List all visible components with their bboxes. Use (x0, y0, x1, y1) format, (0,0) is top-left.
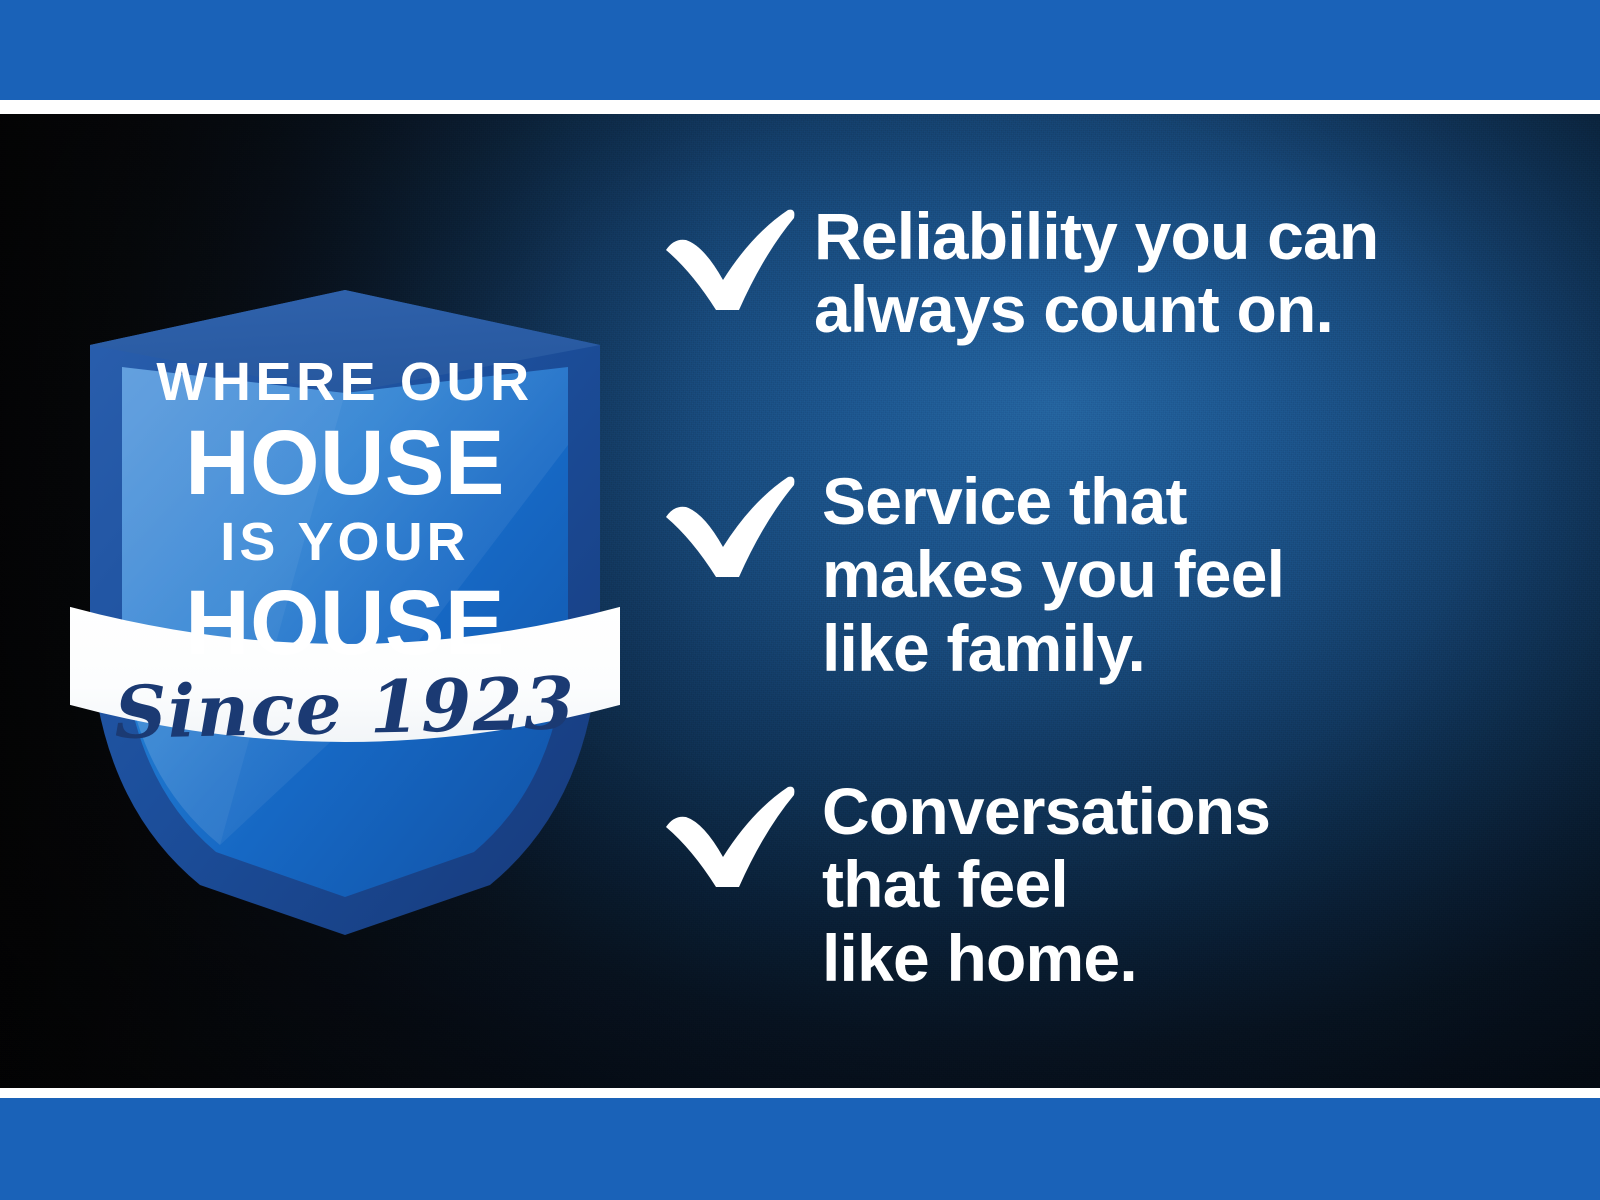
benefit-item: Reliability you can always count on. (660, 200, 1378, 347)
badge-since-ribbon-text: Since 1923 (69, 659, 621, 755)
benefit-item: Conversations that feel like home. (660, 775, 1270, 995)
top-brand-bar (0, 0, 1600, 100)
bottom-brand-bar (0, 1098, 1600, 1200)
benefit-text: Reliability you can always count on. (814, 200, 1378, 347)
promo-poster: Where Our House Is Your House Since 1923… (0, 0, 1600, 1200)
benefit-text: Service that makes you feel like family. (822, 465, 1284, 685)
checkmark-icon (660, 206, 800, 316)
benefit-text: Conversations that feel like home. (822, 775, 1270, 995)
checkmark-icon (660, 783, 800, 893)
badge-line-1: Where Our (70, 355, 620, 409)
badge-line-2: House (78, 417, 612, 509)
badge-line-3: Is Your (70, 515, 620, 569)
checkmark-icon (660, 473, 800, 583)
benefit-item: Service that makes you feel like family. (660, 465, 1284, 685)
badge-line-4: House (78, 577, 612, 669)
shield-badge: Where Our House Is Your House Since 1923 (70, 145, 620, 935)
